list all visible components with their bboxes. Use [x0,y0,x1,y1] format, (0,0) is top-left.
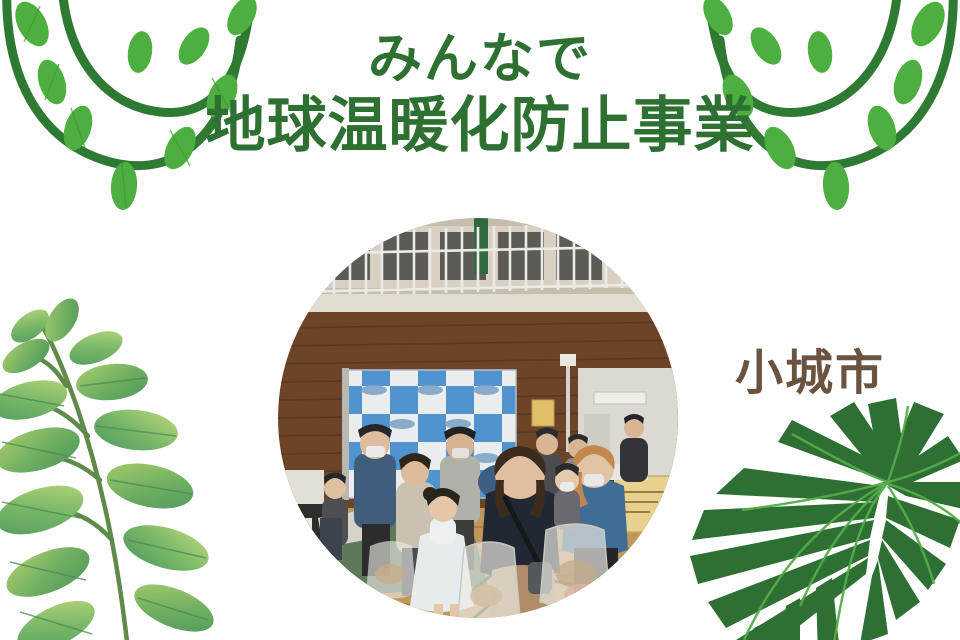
city-name-label: 小城市 [735,333,885,403]
event-photo-circle [278,218,678,618]
branch-leaves [0,293,220,640]
title-line-1: みんなで [0,28,960,90]
monstera-blade [690,398,960,640]
poster-title: みんなで 地球温暖化防止事業 [0,28,960,163]
poster-canvas: みんなで 地球温暖化防止事業 小城市 [0,0,960,640]
title-line-2: 地球温暖化防止事業 [0,90,960,163]
leaf-midribs [0,378,208,634]
watercolor-branch-bottom-left [0,290,270,640]
branch-stem [38,326,128,640]
monstera-veins [742,406,960,640]
photo-content [278,218,678,618]
monstera-leaf-bottom-right [682,398,960,640]
